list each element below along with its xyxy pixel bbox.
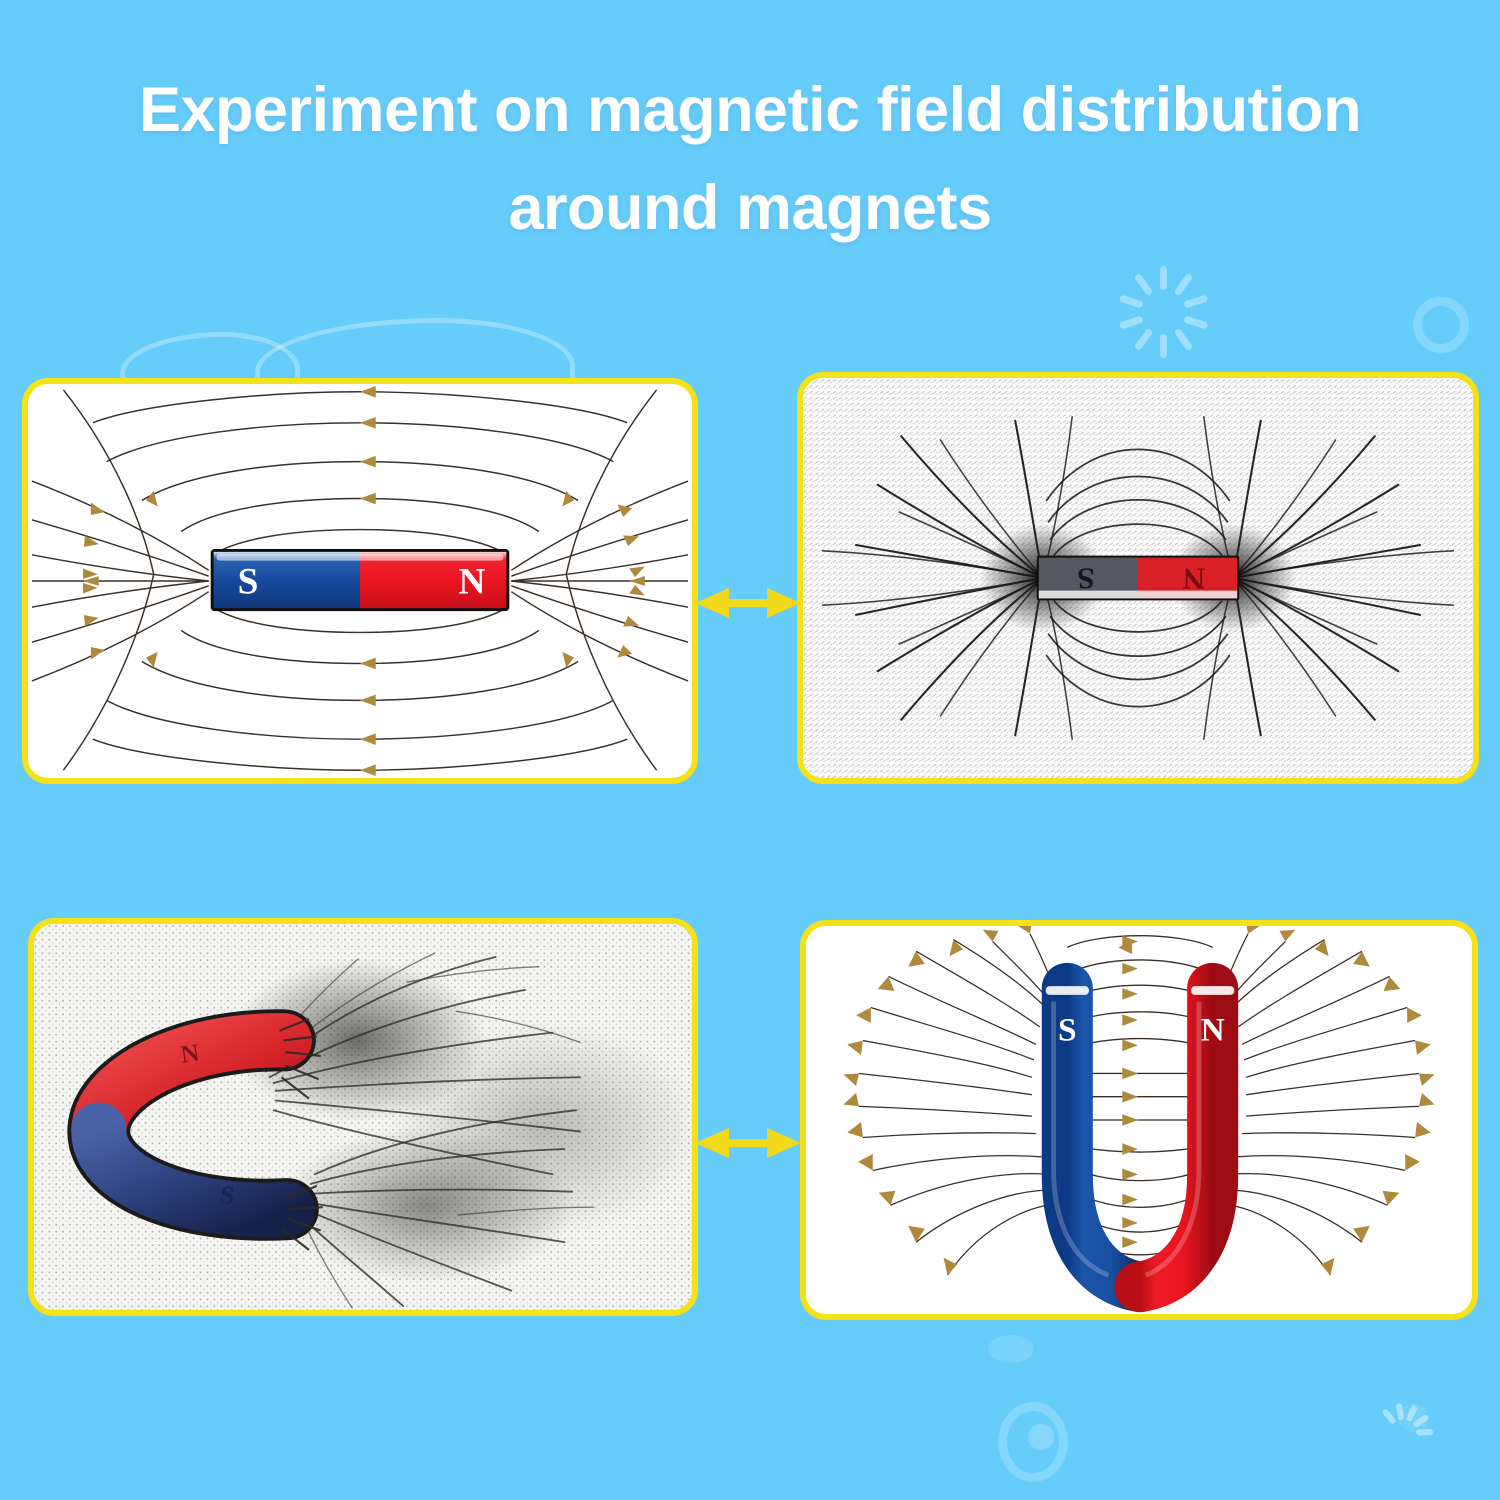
bar-magnet-body: S N — [211, 549, 510, 611]
bar-magnet-north-label: N — [458, 562, 485, 603]
photo-magnet-north-label: N — [1182, 561, 1205, 596]
dot-decoration-bottom-left — [1028, 1424, 1054, 1450]
bar-magnet-photo-body: S N — [1037, 556, 1239, 601]
cloud-decoration-top-left — [120, 332, 300, 381]
ring-decoration-right — [1413, 297, 1469, 353]
panel-bar-magnet-iron-filings-photo[interactable]: S N — [797, 372, 1479, 784]
sunburst-decoration-bottom-right — [1368, 1368, 1438, 1438]
connector-arrow-top — [693, 580, 803, 626]
photo-magnet-south-label: S — [1077, 561, 1094, 596]
photo-horseshoe-north-label: N — [179, 1039, 201, 1069]
horseshoe-south-label: S — [1058, 1012, 1077, 1049]
double-arrow-horizontal-icon — [695, 1128, 801, 1158]
page-title-line-2: around magnets — [0, 160, 1500, 258]
page-title-line-1: Experiment on magnetic field distributio… — [0, 62, 1500, 160]
horseshoe-north-label: N — [1201, 1012, 1225, 1049]
bar-magnet-south-label: S — [238, 562, 259, 603]
panel-horseshoe-magnet-photo[interactable]: N S — [28, 918, 698, 1316]
connector-arrow-bottom — [693, 1120, 803, 1166]
dot-decoration-bottom-center — [988, 1335, 1034, 1363]
photo-horseshoe-south-label: S — [219, 1181, 236, 1210]
page-title: Experiment on magnetic field distributio… — [0, 62, 1500, 257]
cloud-decoration-top-center — [255, 318, 575, 381]
panel-horseshoe-magnet-diagram[interactable]: S N — [800, 920, 1478, 1320]
panel-bar-magnet-diagram[interactable]: S N — [22, 378, 698, 784]
filing-cloud-right — [388, 1021, 692, 1234]
ring-decoration-bottom-left — [998, 1402, 1068, 1482]
double-arrow-horizontal-icon — [695, 588, 801, 618]
poster-canvas: Experiment on magnetic field distributio… — [0, 0, 1500, 1500]
